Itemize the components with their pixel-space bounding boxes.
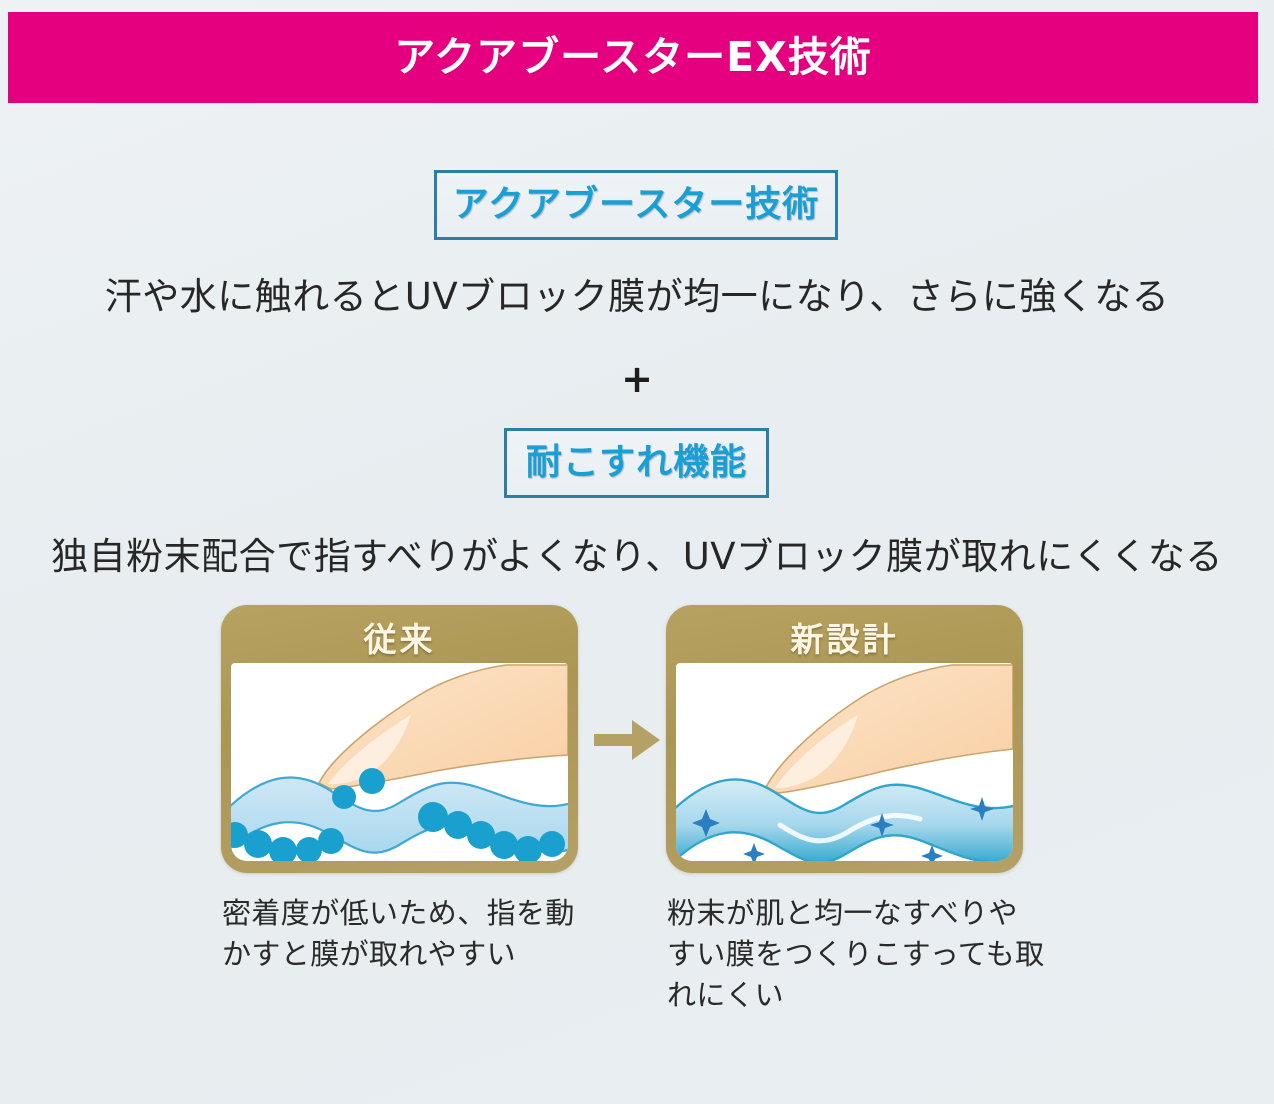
caption-conventional: 密着度が低いため、指を動 かすと膜が取れやすい [222,893,612,975]
caption-line: 粉末が肌と均一なすべりや [667,893,1067,934]
finger-icon [319,665,568,789]
caption-line: すい膜をつくりこすっても取 [667,934,1067,975]
feature-label-rub-resistance: 耐こすれ機能 [526,445,747,481]
new-design-illustration-svg [676,663,1013,861]
conventional-illustration-svg [231,663,568,861]
panel-title-new-design: 新設計 [676,615,1013,663]
caption-new-design: 粉末が肌と均一なすべりや すい膜をつくりこすっても取 れにくい [667,893,1067,1017]
header-banner: アクアブースターEX技術 [8,12,1258,103]
finger-icon [766,665,1013,793]
caption-line: 密着度が低いため、指を動 [222,893,612,934]
illustration-new-design [676,663,1013,861]
caption-line: かすと膜が取れやすい [222,934,612,975]
feature-description-rub-resistance: 独自粉末配合で指すべりがよくなり、UVブロック膜が取れにくくなる [0,538,1274,575]
arrow-right-icon [592,716,662,764]
caption-line: れにくい [667,975,1067,1016]
feature-box-rub-resistance: 耐こすれ機能 [504,428,769,498]
comparison-panel-conventional: 従来 [221,605,578,873]
feature-box-aqua-booster: アクアブースター技術 [434,170,838,240]
uv-film-layer [676,779,1013,861]
illustration-conventional [231,663,568,861]
page-title: アクアブースターEX技術 [394,37,872,78]
comparison-panel-new-design: 新設計 [666,605,1023,873]
plus-operator: + [0,360,1274,398]
page-root: アクアブースターEX技術 アクアブースター技術 汗や水に触れるとUVブロック膜が… [0,0,1274,1104]
feature-label-aqua-booster: アクアブースター技術 [453,187,819,223]
panel-title-conventional: 従来 [231,615,568,663]
feature-description-aqua-booster: 汗や水に触れるとUVブロック膜が均一になり、さらに強くなる [0,278,1274,315]
